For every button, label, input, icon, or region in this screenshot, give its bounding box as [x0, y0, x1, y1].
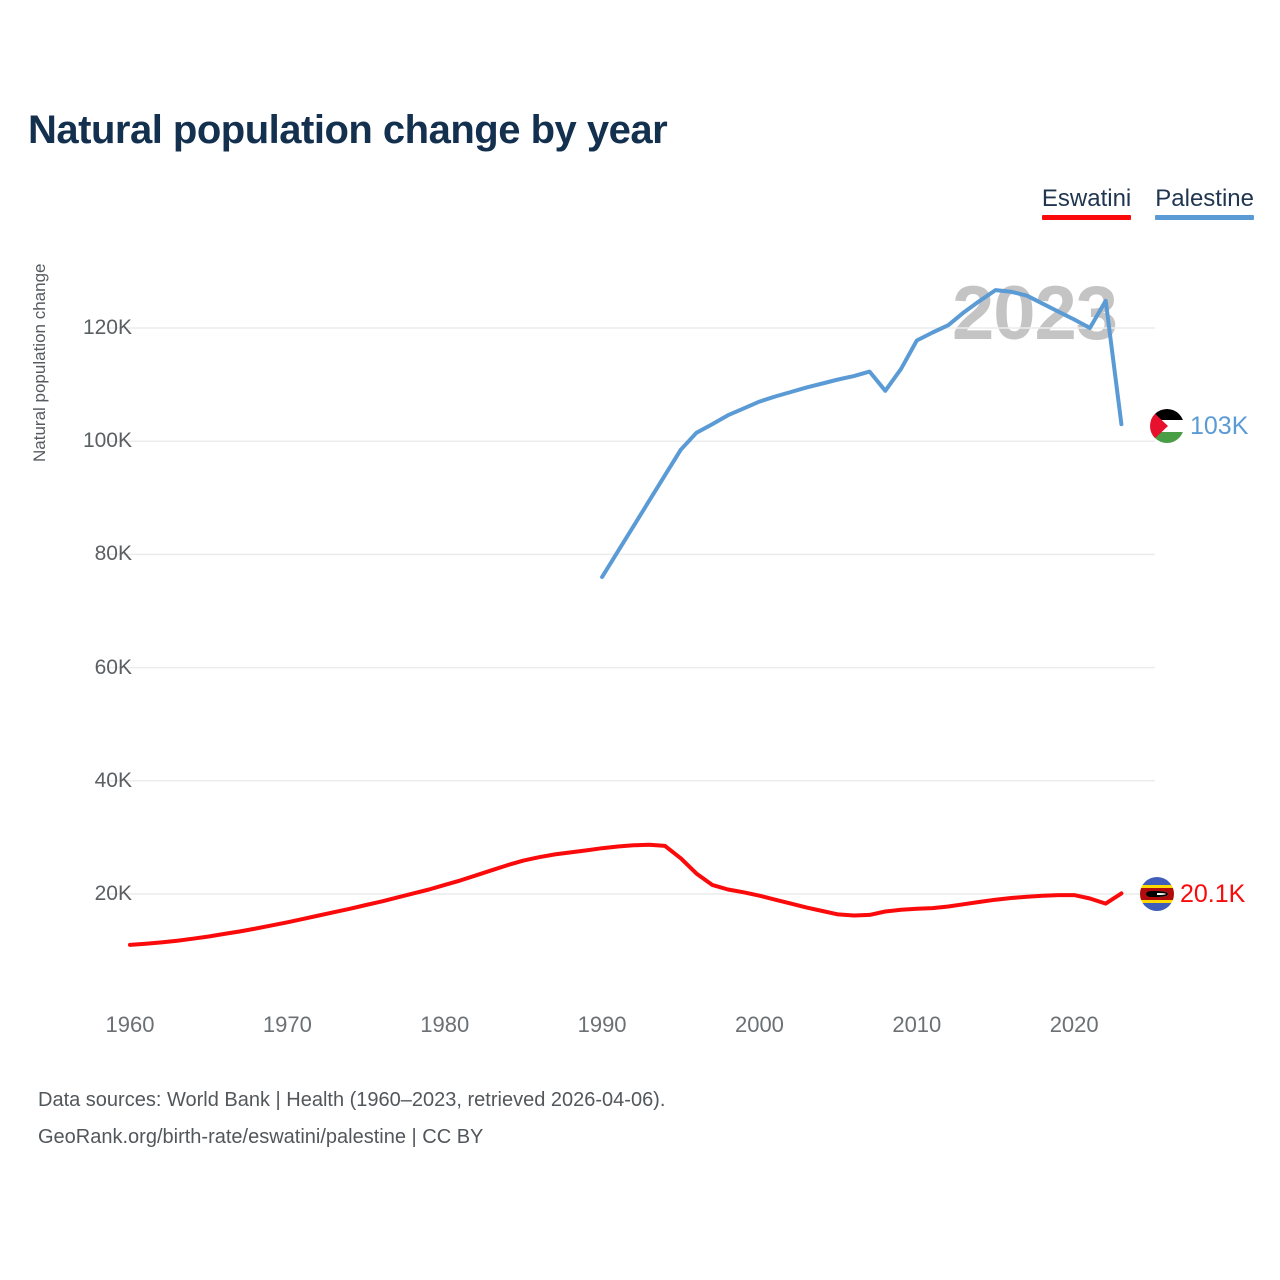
footer: Data sources: World Bank | Health (1960–… — [38, 1082, 665, 1156]
palestine-flag-icon — [1150, 409, 1184, 443]
legend-label-palestine: Palestine — [1155, 186, 1254, 211]
endpoint-value-palestine: 103K — [1190, 412, 1248, 441]
endpoint-palestine[interactable]: 103K — [1150, 409, 1248, 443]
x-axis-tick: 2020 — [1050, 1012, 1099, 1038]
y-axis-tick: 40K — [12, 769, 132, 793]
x-axis-tick: 2000 — [735, 1012, 784, 1038]
y-axis-tick: 20K — [12, 882, 132, 906]
footer-attribution: GeoRank.org/birth-rate/eswatini/palestin… — [38, 1119, 665, 1156]
legend-label-eswatini: Eswatini — [1042, 186, 1131, 211]
endpoint-eswatini[interactable]: 20.1K — [1140, 877, 1245, 911]
series-line-palestine — [602, 290, 1121, 577]
chart-legend: Eswatini Palestine — [1042, 186, 1254, 220]
y-axis-tick: 80K — [12, 542, 132, 566]
watermark-year: 2023 — [952, 276, 1117, 352]
legend-rule-palestine — [1155, 215, 1254, 220]
y-axis-title: Natural population change — [30, 142, 50, 462]
y-axis-tick: 120K — [12, 316, 132, 340]
y-axis-tick: 60K — [12, 656, 132, 680]
x-axis-tick: 1990 — [578, 1012, 627, 1038]
legend-item-eswatini[interactable]: Eswatini — [1042, 186, 1131, 220]
endpoint-value-eswatini: 20.1K — [1180, 880, 1245, 909]
eswatini-flag-icon — [1140, 877, 1174, 911]
footer-data-sources: Data sources: World Bank | Health (1960–… — [38, 1082, 665, 1119]
page-title: Natural population change by year — [28, 108, 667, 153]
x-axis-tick: 1980 — [420, 1012, 469, 1038]
y-axis-tick: 100K — [12, 429, 132, 453]
chart-root: Natural population change by year Eswati… — [0, 0, 1280, 1280]
legend-item-palestine[interactable]: Palestine — [1155, 186, 1254, 220]
x-axis-tick: 1960 — [106, 1012, 155, 1038]
x-axis-tick: 2010 — [892, 1012, 941, 1038]
x-axis-tick: 1970 — [263, 1012, 312, 1038]
legend-rule-eswatini — [1042, 215, 1131, 220]
series-line-eswatini — [130, 845, 1121, 945]
